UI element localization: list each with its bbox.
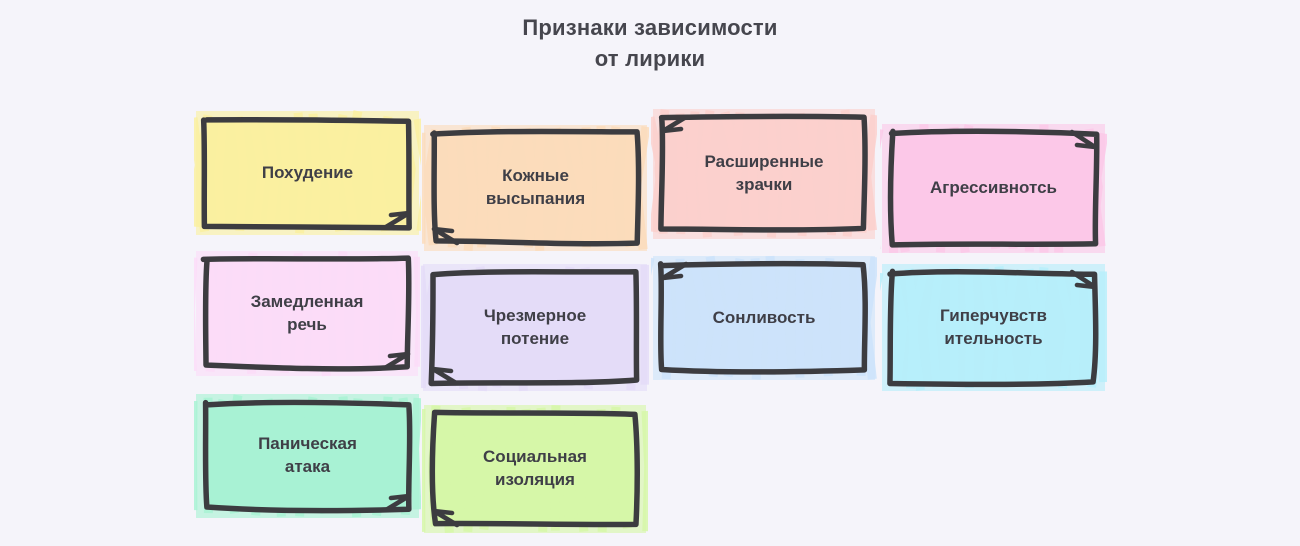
sketch-card-shape (203, 117, 412, 229)
sketch-card-shape (430, 270, 640, 385)
symptom-card[interactable]: Замедленная речь (203, 257, 411, 370)
symptom-card[interactable]: Кожные высыпания (431, 131, 640, 245)
sketch-card-shape (431, 131, 640, 245)
sketch-card-shape (660, 262, 868, 374)
sketch-card-shape (889, 270, 1098, 385)
sketch-card-shape (203, 257, 411, 370)
symptom-card[interactable]: Похудение (203, 117, 412, 229)
symptom-card[interactable]: Чрезмерное потение (430, 270, 640, 385)
symptom-card[interactable]: Расширенные зрачки (660, 115, 868, 233)
symptom-card[interactable]: Гиперчувств ительность (889, 270, 1098, 385)
symptom-card[interactable]: Сонливость (660, 262, 868, 374)
symptom-card-board: ПохудениеКожные высыпанияРасширенные зра… (0, 0, 1300, 546)
sketch-card-shape (889, 130, 1098, 247)
symptom-card[interactable]: Агрессивнотсь (889, 130, 1098, 247)
sketch-card-shape (660, 115, 868, 233)
symptom-card[interactable]: Социальная изоляция (431, 411, 639, 527)
symptom-card[interactable]: Паническая атака (203, 400, 412, 512)
sketch-card-shape (203, 400, 412, 512)
sketch-card-shape (431, 411, 639, 527)
